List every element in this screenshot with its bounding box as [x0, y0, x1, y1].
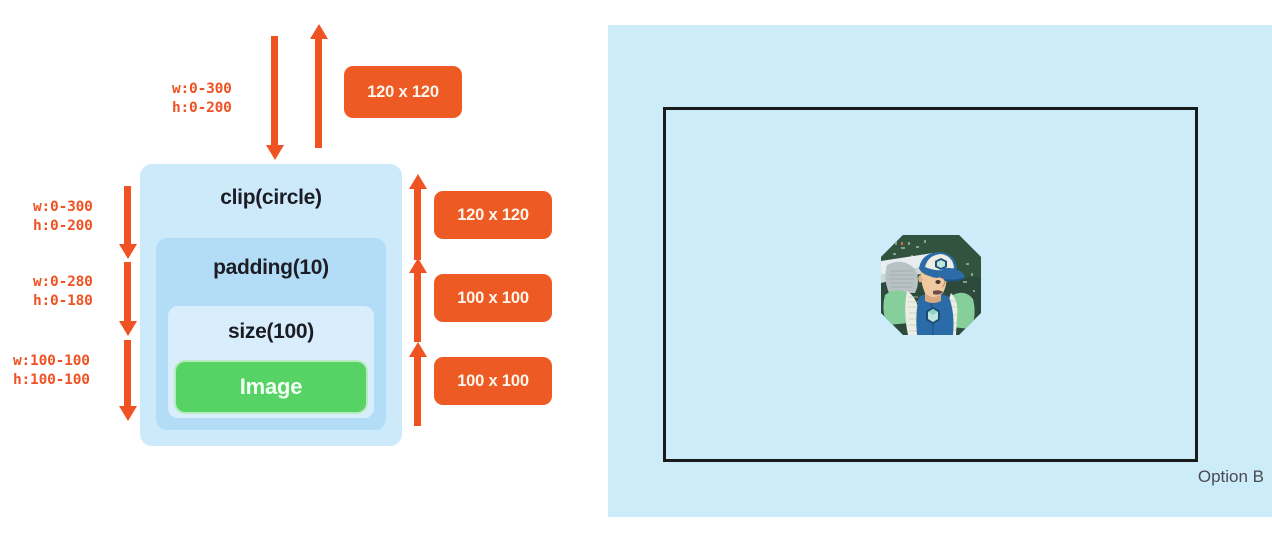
anno-size-constraint: w:100-100 h:100-100 [13, 352, 90, 390]
size-box-label: size(100) [168, 320, 374, 344]
arrow-down-padding [124, 262, 131, 322]
character-avatar [881, 235, 981, 335]
badge-size: 100 x 100 [434, 357, 552, 405]
badge-padding: 100 x 100 [434, 274, 552, 322]
arrow-down-clip [124, 186, 131, 245]
constraint-diagram: w:0-300 h:0-200 120 x 120 w:0-300 h:0-20… [0, 0, 600, 534]
padding-box: padding(10) size(100) Image [156, 238, 386, 430]
arrow-up-clip [414, 188, 421, 260]
badge-clip: 120 x 120 [434, 191, 552, 239]
option-label: Option B [1198, 467, 1264, 487]
clip-box-label: clip(circle) [140, 186, 402, 210]
image-box-label: Image [176, 374, 366, 400]
preview-frame [663, 107, 1198, 462]
clip-box: clip(circle) padding(10) size(100) Image [140, 164, 402, 446]
arrow-down-top [271, 36, 278, 146]
image-box: Image [176, 362, 366, 412]
arrow-up-top [315, 38, 322, 148]
anno-top-constraint: w:0-300 h:0-200 [172, 80, 232, 118]
anno-clip-constraint: w:0-300 h:0-200 [33, 198, 93, 236]
padding-box-label: padding(10) [156, 256, 386, 280]
size-box: size(100) Image [168, 306, 374, 418]
arrow-up-size [414, 356, 421, 426]
option-b-preview: Option B [608, 25, 1272, 517]
anno-padding-constraint: w:0-280 h:0-180 [33, 273, 93, 311]
arrow-down-size [124, 340, 131, 407]
badge-top: 120 x 120 [344, 66, 462, 118]
arrow-up-padding [414, 272, 421, 342]
